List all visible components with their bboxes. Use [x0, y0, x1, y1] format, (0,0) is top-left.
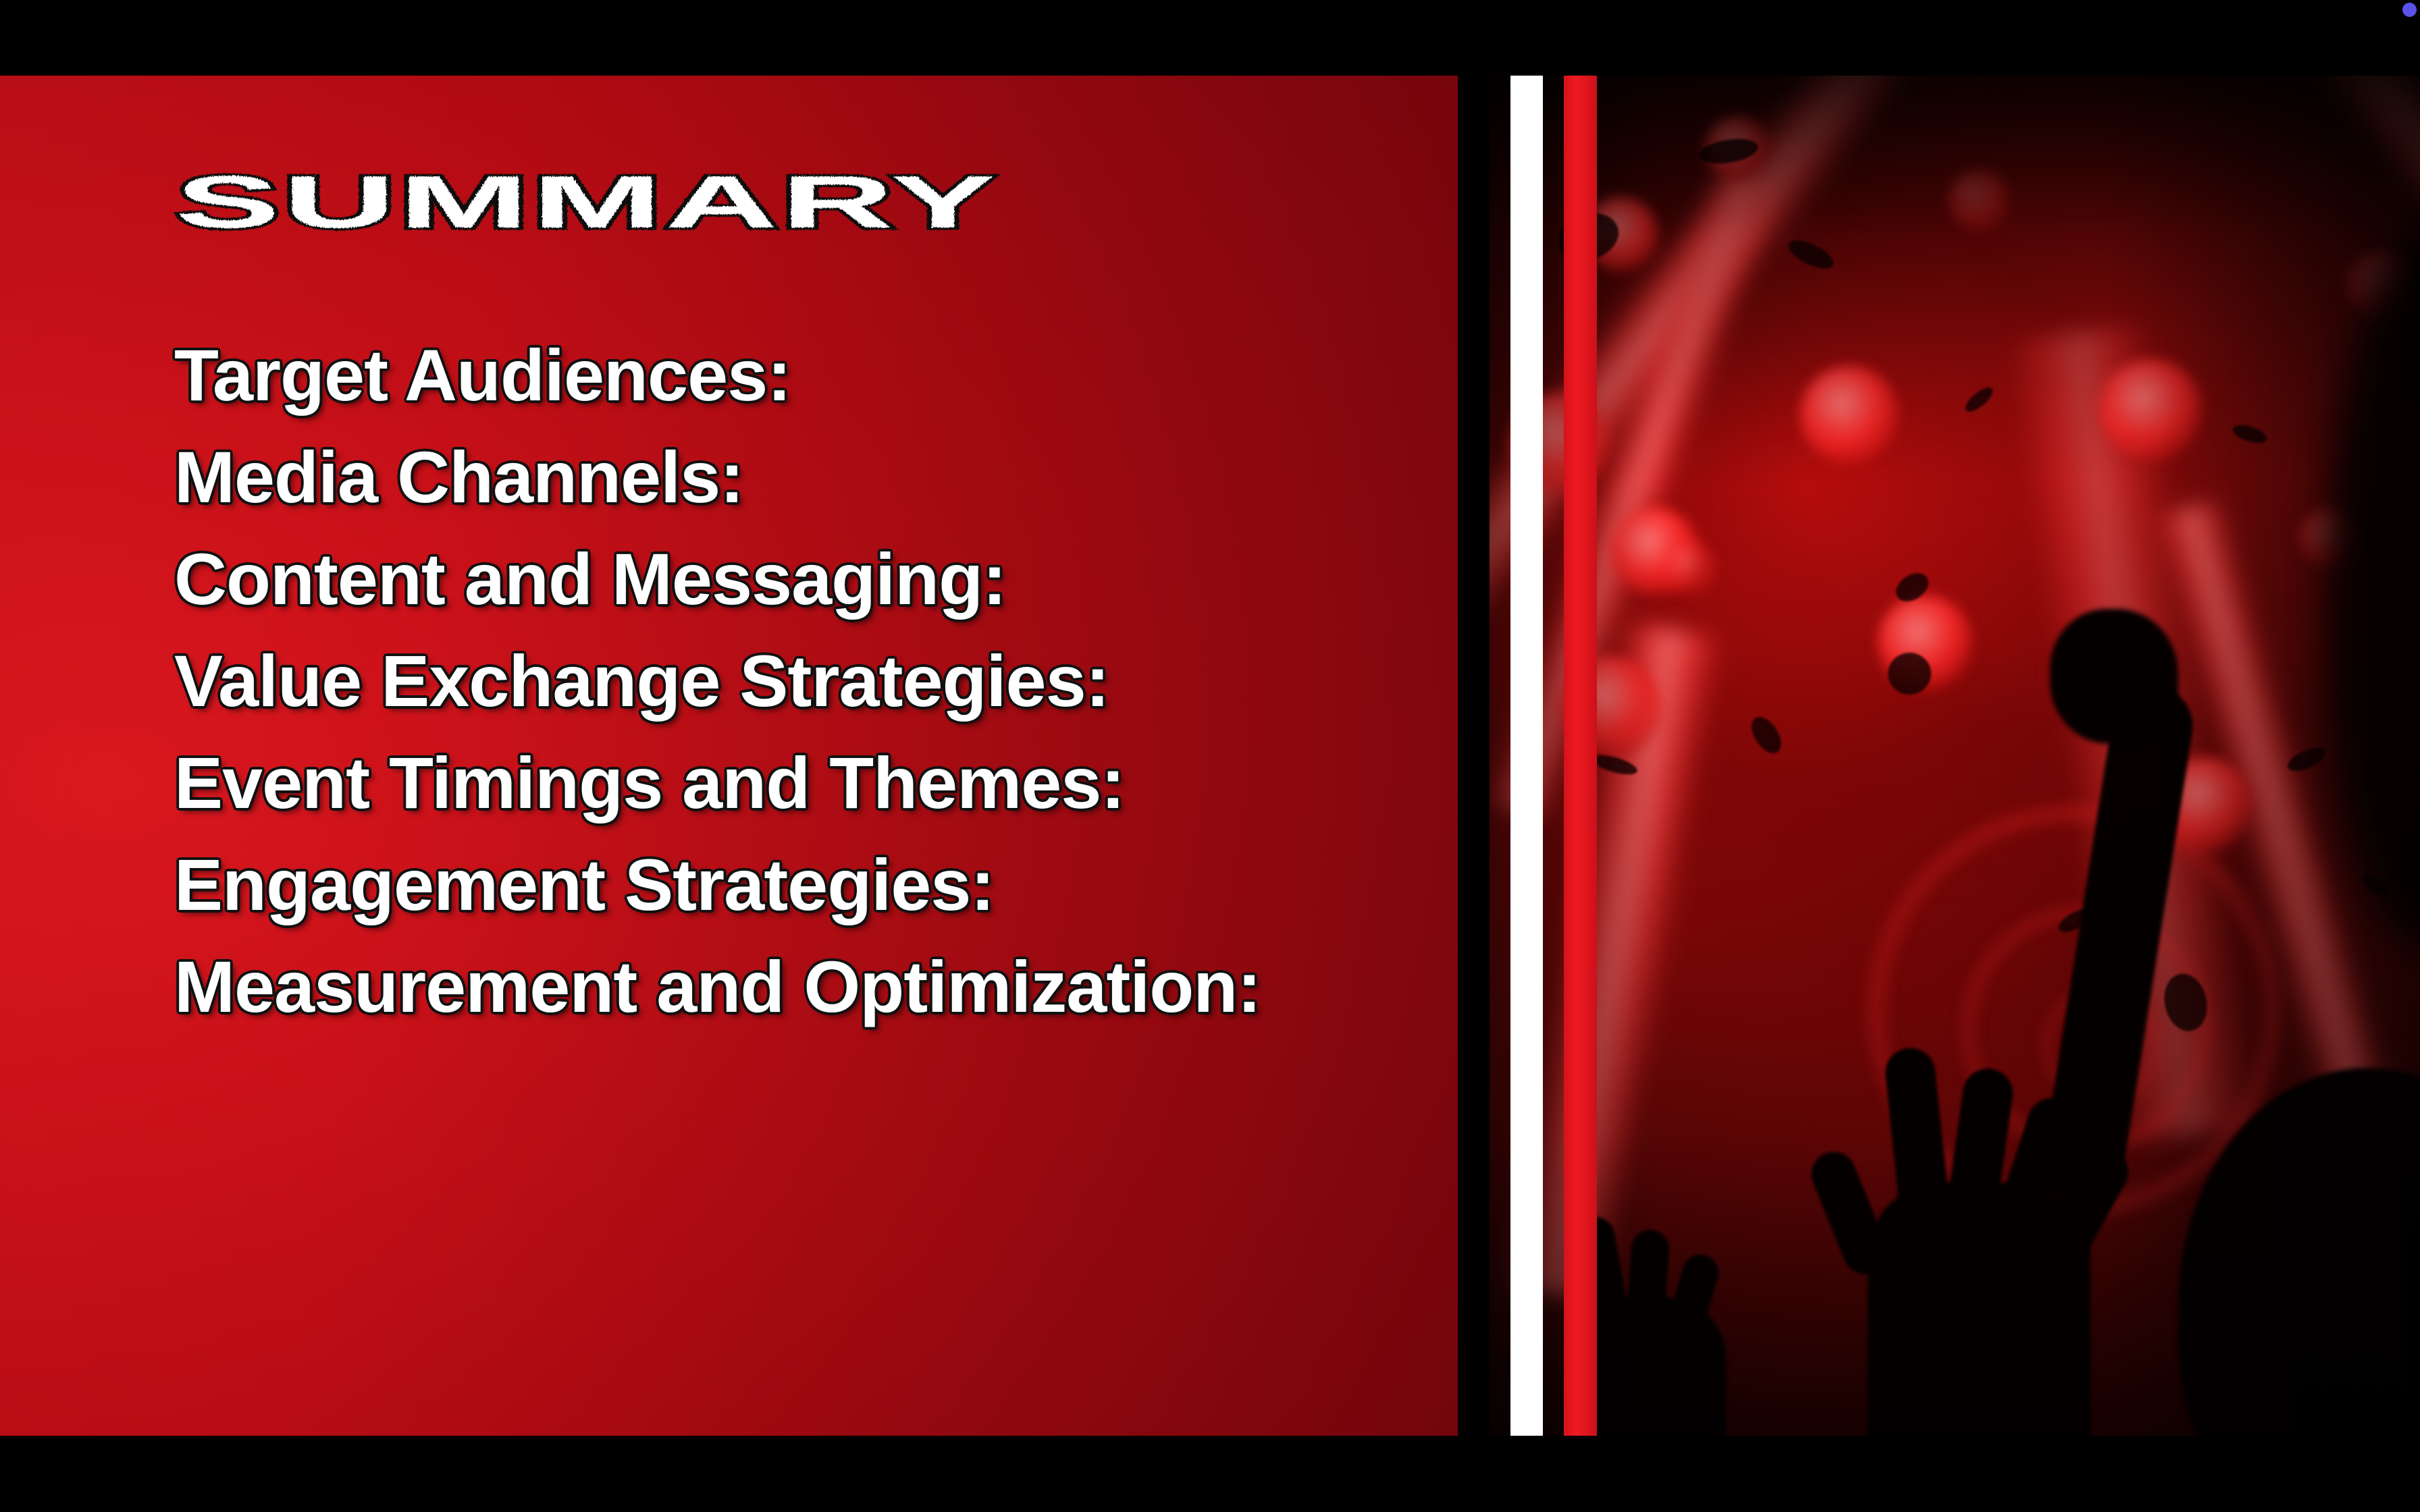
list-item: Measurement and Optimization: — [174, 936, 1390, 1037]
letterbox-bottom — [0, 1436, 2420, 1512]
photo-vignette — [1490, 76, 2420, 1436]
white-accent-bar — [1510, 76, 1543, 1436]
list-item: Content and Messaging: — [174, 528, 1390, 630]
presentation-slide: SUMMARY Target Audiences: Media Channels… — [0, 0, 2420, 1512]
list-item: Value Exchange Strategies: — [174, 630, 1390, 732]
list-item: Engagement Strategies: — [174, 834, 1390, 936]
letterbox-top — [0, 0, 2420, 76]
pointer-dot-indicator[interactable] — [2402, 3, 2417, 17]
list-item: Event Timings and Themes: — [174, 732, 1390, 834]
page-title: SUMMARY — [176, 145, 1006, 246]
title-artwork: SUMMARY — [176, 145, 1006, 246]
list-item: Media Channels: — [174, 426, 1390, 528]
red-accent-bar — [1564, 76, 1597, 1436]
concert-photo — [1490, 76, 2420, 1436]
title-text: SUMMARY — [176, 161, 998, 244]
list-item: Target Audiences: — [174, 324, 1390, 426]
summary-list: Target Audiences: Media Channels: Conten… — [174, 324, 1390, 1037]
